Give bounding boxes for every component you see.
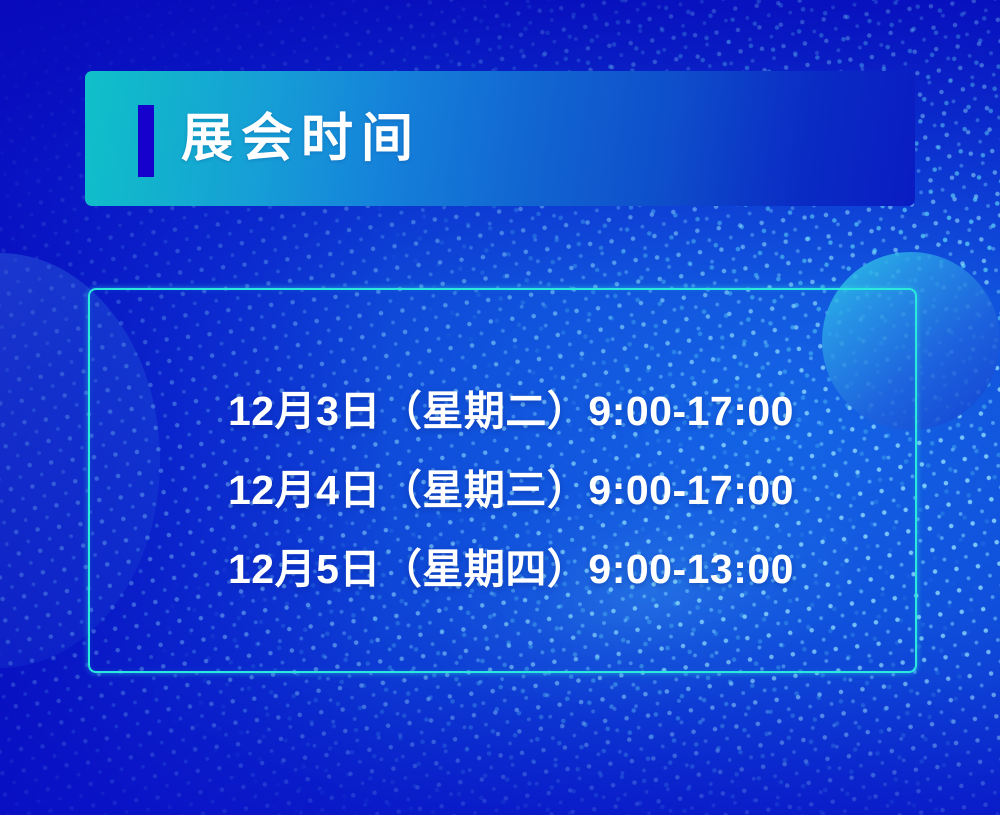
schedule-entry: 12月4日（星期三）9:00-17:00 xyxy=(228,451,848,530)
schedule-list: 12月3日（星期二）9:00-17:00 12月4日（星期三）9:00-17:0… xyxy=(228,372,848,609)
poster-canvas: 展会时间 12月3日（星期二）9:00-17:00 12月4日（星期三）9:00… xyxy=(0,0,1000,815)
schedule-entry: 12月5日（星期四）9:00-13:00 xyxy=(228,530,848,609)
header-accent-bar-icon xyxy=(138,105,154,177)
section-header-banner: 展会时间 xyxy=(85,71,915,206)
page-title: 展会时间 xyxy=(181,113,421,165)
schedule-entry: 12月3日（星期二）9:00-17:00 xyxy=(228,372,848,451)
